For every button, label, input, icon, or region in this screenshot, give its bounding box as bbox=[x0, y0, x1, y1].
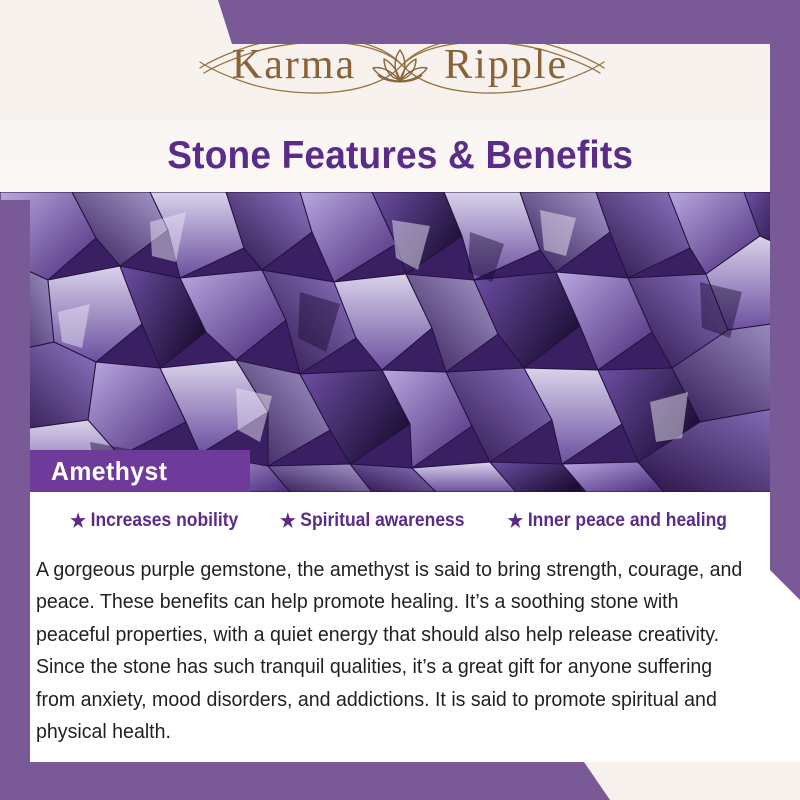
stone-photo bbox=[0, 192, 800, 492]
lotus-icon bbox=[370, 42, 430, 88]
title-band: Stone Features & Benefits bbox=[0, 120, 800, 192]
star-icon: ★ bbox=[508, 512, 524, 531]
benefit-label: Increases nobility bbox=[91, 510, 239, 532]
brand-word-right: Ripple bbox=[444, 41, 568, 89]
benefit-item-2: ★ Inner peace and healing bbox=[508, 510, 727, 532]
product-info-card: Karma Ripple Stone Features & Benefits bbox=[0, 0, 800, 800]
stone-description: A gorgeous purple gemstone, the amethyst… bbox=[36, 554, 750, 748]
amethyst-cluster-illustration bbox=[0, 192, 800, 492]
frame-accent-left bbox=[0, 200, 30, 800]
frame-accent-bottom bbox=[0, 762, 800, 800]
stone-name-banner: Amethyst bbox=[0, 450, 250, 492]
benefit-item-0: ★ Increases nobility bbox=[71, 510, 239, 532]
star-icon: ★ bbox=[280, 512, 296, 531]
page-title: Stone Features & Benefits bbox=[167, 134, 633, 178]
brand-wordmark: Karma Ripple bbox=[232, 41, 568, 89]
benefits-list: ★ Increases nobility ★ Spiritual awarene… bbox=[0, 510, 800, 532]
stone-name: Amethyst bbox=[51, 456, 167, 487]
benefit-label: Inner peace and healing bbox=[528, 510, 727, 532]
frame-accent-right bbox=[770, 0, 800, 600]
brand-word-left: Karma bbox=[232, 41, 356, 89]
benefit-item-1: ★ Spiritual awareness bbox=[280, 510, 464, 532]
star-icon: ★ bbox=[71, 512, 87, 531]
benefit-label: Spiritual awareness bbox=[300, 510, 464, 532]
details-panel: ★ Increases nobility ★ Spiritual awarene… bbox=[0, 492, 800, 762]
